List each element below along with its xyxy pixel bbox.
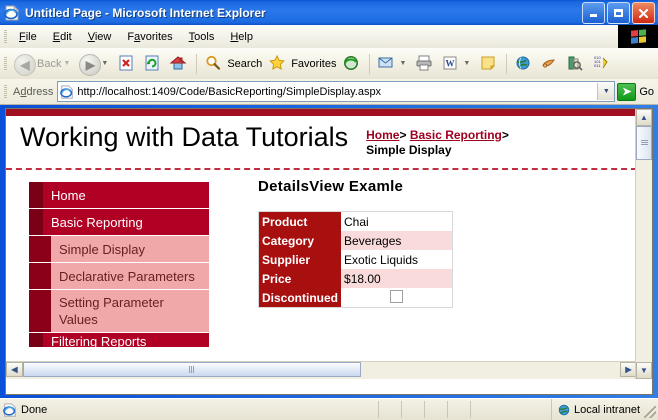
address-dropdown-icon[interactable]: ▼ [597, 83, 614, 100]
content-heading: DetailsView Examle [258, 178, 488, 195]
address-favicon [60, 85, 74, 99]
sidebar-accent-bar [29, 236, 51, 262]
table-row: Price $18.00 [259, 269, 453, 288]
status-cells [378, 401, 493, 418]
page-title: Working with Data Tutorials [20, 122, 348, 153]
horizontal-scroll-thumb[interactable] [23, 362, 361, 377]
resize-grip[interactable] [644, 406, 656, 418]
history-button[interactable] [339, 52, 365, 76]
go-button[interactable]: ➤ Go [617, 83, 658, 101]
mail-button[interactable]: ▼ [374, 52, 412, 76]
sidebar-accent-bar [29, 182, 43, 208]
sidebar-item-label: Simple Display [59, 241, 151, 258]
mail-icon [377, 54, 397, 74]
security-zone[interactable]: Local intranet [551, 399, 640, 420]
edit-in-word-button[interactable]: W ▼ [438, 52, 476, 76]
row-field-label: Supplier [259, 250, 342, 269]
sidebar-item-label: Home [51, 188, 86, 203]
notes-button[interactable] [476, 52, 502, 76]
home-button[interactable] [166, 52, 192, 76]
status-text: Done [21, 404, 47, 416]
sidebar-accent-bar [29, 209, 43, 235]
sidebar-nav: Home Basic Reporting Simple Display Decl… [29, 182, 209, 347]
toolbar-separator-3 [506, 54, 507, 74]
table-row: Product Chai [259, 212, 453, 232]
menu-grip[interactable] [4, 30, 7, 44]
row-value: Beverages [341, 231, 453, 250]
sidebar-item-label: Declarative Parameters [59, 268, 201, 285]
favorites-star-icon [268, 54, 288, 74]
address-bar: Address http://localhost:1409/Code/Basic… [0, 79, 658, 105]
search-button[interactable]: Search [201, 52, 265, 76]
breadcrumb-section-link[interactable]: Basic Reporting [410, 128, 502, 142]
page-top-accent-bar [6, 109, 637, 116]
research-button[interactable] [563, 52, 589, 76]
row-value-checkbox [341, 288, 453, 308]
stop-button[interactable] [114, 52, 140, 76]
search-icon [204, 54, 224, 74]
address-grip[interactable] [4, 85, 7, 99]
horizontal-scrollbar[interactable]: ◀ ▶ [6, 361, 637, 379]
svg-text:011: 011 [594, 63, 601, 68]
research-icon [566, 54, 586, 74]
menu-bar: File Edit View Favorites Tools Help [0, 25, 658, 49]
discontinued-checkbox[interactable] [390, 290, 403, 303]
row-value: Exotic Liquids [341, 250, 453, 269]
windows-flag-icon [618, 25, 658, 48]
sidebar-item-basic-reporting[interactable]: Basic Reporting [29, 209, 209, 236]
forward-button[interactable]: ▶ ▼ [76, 52, 114, 76]
sidebar-item-label: Filtering Reports [51, 334, 209, 347]
browser-viewport: Working with Data Tutorials Home> Basic … [5, 108, 653, 395]
row-value: $18.00 [341, 269, 453, 288]
page-body: Home Basic Reporting Simple Display Decl… [6, 170, 637, 379]
toolbar-separator-2 [369, 54, 370, 74]
address-input[interactable]: http://localhost:1409/Code/BasicReportin… [57, 81, 615, 102]
table-row: Discontinued [259, 288, 453, 308]
vertical-scrollbar[interactable]: ▲ ▼ [635, 109, 652, 379]
scroll-left-button[interactable]: ◀ [6, 362, 23, 377]
mail-dropdown-icon[interactable]: ▼ [399, 60, 406, 67]
status-cell [447, 401, 470, 418]
breadcrumb: Home> Basic Reporting> Simple Display [366, 128, 509, 158]
scroll-up-button[interactable]: ▲ [636, 109, 652, 126]
sidebar-item-declarative-parameters[interactable]: Declarative Parameters [29, 263, 209, 290]
globe-icon [514, 54, 534, 74]
menu-file[interactable]: File [11, 29, 45, 45]
sidebar-item-home[interactable]: Home [29, 182, 209, 209]
breadcrumb-current: Simple Display [366, 143, 451, 157]
address-url-text: http://localhost:1409/Code/BasicReportin… [77, 86, 597, 98]
sidebar-item-label: Setting Parameter Values [59, 294, 209, 328]
print-button[interactable] [412, 52, 438, 76]
go-label: Go [639, 86, 654, 98]
vertical-scroll-thumb[interactable] [636, 126, 652, 160]
stop-icon [117, 54, 137, 74]
row-field-label: Category [259, 231, 342, 250]
favorites-button[interactable]: Favorites [265, 52, 339, 76]
ie-page-icon [4, 5, 20, 21]
menu-help[interactable]: Help [222, 29, 261, 45]
search-label: Search [227, 58, 262, 70]
print-icon [415, 54, 435, 74]
close-button[interactable] [632, 2, 655, 24]
encoding-icon: 010101011 [592, 54, 612, 74]
main-content: DetailsView Examle Product Chai Category… [258, 178, 488, 308]
row-field-label: Price [259, 269, 342, 288]
messenger-icon [540, 54, 560, 74]
detailsview-table: Product Chai Category Beverages Supplier… [258, 211, 453, 308]
status-cell [424, 401, 447, 418]
back-arrow-icon: ◀ [14, 54, 34, 74]
ie-window: Untitled Page - Microsoft Internet Explo… [0, 0, 658, 420]
sidebar-item-simple-display[interactable]: Simple Display [29, 236, 209, 263]
forward-dropdown-icon[interactable]: ▼ [101, 60, 108, 67]
scroll-down-button[interactable]: ▼ [636, 362, 652, 379]
web-page: Working with Data Tutorials Home> Basic … [6, 109, 637, 379]
forward-arrow-icon: ▶ [79, 54, 99, 74]
sidebar-accent-bar [29, 333, 43, 347]
breadcrumb-sep-1: > [399, 128, 406, 142]
word-dropdown-icon[interactable]: ▼ [463, 60, 470, 67]
menu-favorites[interactable]: Favorites [119, 29, 180, 45]
table-row: Category Beverages [259, 231, 453, 250]
go-arrow-icon: ➤ [617, 83, 636, 101]
messenger-button[interactable] [537, 52, 563, 76]
home-icon [169, 54, 189, 74]
window-buttons [582, 2, 655, 24]
breadcrumb-sep-2: > [502, 128, 509, 142]
window-title: Untitled Page - Microsoft Internet Explo… [25, 6, 266, 20]
edit-word-icon: W [441, 54, 461, 74]
row-field-label: Product [259, 212, 342, 232]
breadcrumb-home-link[interactable]: Home [366, 128, 399, 142]
history-icon [342, 54, 362, 74]
address-label: Address [13, 86, 53, 98]
encoding-button[interactable]: 010101011 [589, 52, 615, 76]
sidebar-item-label: Basic Reporting [51, 215, 143, 230]
refresh-icon [143, 54, 163, 74]
refresh-button[interactable] [140, 52, 166, 76]
row-value: Chai [341, 212, 453, 232]
table-row: Supplier Exotic Liquids [259, 250, 453, 269]
back-button[interactable]: ◀ Back ▼ [11, 52, 76, 76]
intranet-globe-icon [557, 403, 571, 417]
sidebar-item-setting-parameter-values[interactable]: Setting Parameter Values [29, 290, 209, 333]
status-cell [378, 401, 401, 418]
svg-text:W: W [446, 58, 455, 68]
back-dropdown-icon[interactable]: ▼ [63, 60, 70, 67]
status-cell [401, 401, 424, 418]
menu-view[interactable]: View [80, 29, 120, 45]
toolbar: ◀ Back ▼ ▶ ▼ [0, 48, 658, 80]
menu-tools[interactable]: Tools [181, 29, 223, 45]
sidebar-item-filtering-reports[interactable]: Filtering Reports [29, 333, 209, 347]
toolbar-separator [196, 54, 197, 74]
status-cell [470, 401, 493, 418]
minimize-button[interactable] [582, 2, 605, 24]
page-header: Working with Data Tutorials Home> Basic … [6, 116, 637, 170]
notes-icon [479, 54, 499, 74]
sidebar-accent-bar [29, 263, 51, 289]
toolbar-grip[interactable] [4, 57, 7, 71]
zone-label: Local intranet [574, 404, 640, 416]
title-bar: Untitled Page - Microsoft Internet Explo… [0, 0, 658, 25]
sidebar-accent-bar [29, 290, 51, 332]
status-bar: Done Local intranet [0, 398, 658, 420]
status-page-icon [3, 403, 17, 417]
menu-edit[interactable]: Edit [45, 29, 80, 45]
back-label: Back [37, 58, 61, 70]
globe-button[interactable] [511, 52, 537, 76]
favorites-label: Favorites [291, 58, 336, 70]
row-field-label: Discontinued [259, 288, 342, 308]
maximize-button[interactable] [607, 2, 630, 24]
